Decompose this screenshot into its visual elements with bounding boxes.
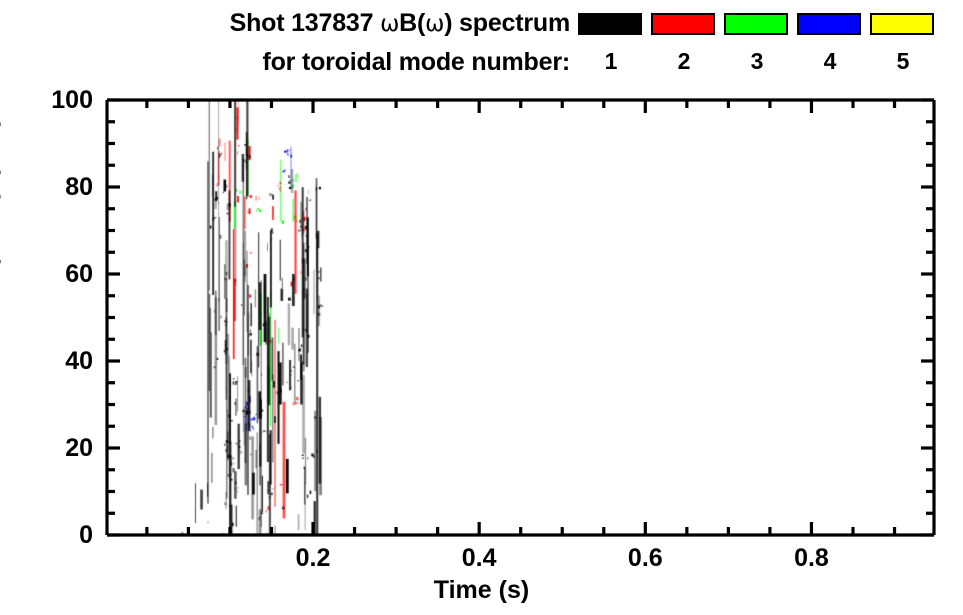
y-tick-label-20: 20 <box>13 435 93 461</box>
x-tick-label-0-4: 0.4 <box>434 545 524 571</box>
legend-label-n3: 3 <box>724 49 790 73</box>
title-line-1: Shot 137837 ωB(ω) spectrum <box>0 4 570 43</box>
x-tick-label-0-2: 0.2 <box>268 545 358 571</box>
omega-symbol-1: ω <box>380 11 399 37</box>
title-line-2: for toroidal mode number: <box>0 43 570 81</box>
legend-swatch-n3 <box>724 13 788 35</box>
x-tick-label-0-6: 0.6 <box>600 545 690 571</box>
chart-title: Shot 137837 ωB(ω) spectrum for toroidal … <box>0 4 570 81</box>
legend-swatch-n1 <box>578 13 642 35</box>
legend-swatch-n2 <box>651 13 715 35</box>
mode-number-legend: 12345 <box>578 13 960 93</box>
y-axis-label: Frequency (kHz) <box>0 118 3 312</box>
legend-swatch-n5 <box>870 13 934 35</box>
x-tick-label-0-8: 0.8 <box>766 545 856 571</box>
title-spectrum-text: ) spectrum <box>444 9 570 37</box>
y-tick-label-0: 0 <box>13 522 93 548</box>
legend-label-n2: 2 <box>651 49 717 73</box>
title-b-text: B( <box>399 9 425 37</box>
legend-item-n4[interactable]: 4 <box>797 13 863 73</box>
legend-label-n1: 1 <box>578 49 644 73</box>
title-shot-text: Shot 137837 <box>230 9 380 37</box>
legend-item-n2[interactable]: 2 <box>651 13 717 73</box>
legend-item-n5[interactable]: 5 <box>870 13 936 73</box>
legend-swatch-n4 <box>797 13 861 35</box>
plot-area <box>107 100 934 535</box>
omega-symbol-2: ω <box>425 11 444 37</box>
y-tick-label-60: 60 <box>13 261 93 287</box>
legend-label-n4: 4 <box>797 49 863 73</box>
y-tick-label-40: 40 <box>13 348 93 374</box>
y-tick-label-100: 100 <box>13 87 93 113</box>
legend-item-n3[interactable]: 3 <box>724 13 790 73</box>
y-tick-label-80: 80 <box>13 174 93 200</box>
spectrogram-figure: Shot 137837 ωB(ω) spectrum for toroidal … <box>0 0 963 615</box>
legend-label-n5: 5 <box>870 49 936 73</box>
spectrogram-canvas <box>107 100 934 535</box>
legend-item-n1[interactable]: 1 <box>578 13 644 73</box>
x-axis-label: Time (s) <box>0 576 963 605</box>
